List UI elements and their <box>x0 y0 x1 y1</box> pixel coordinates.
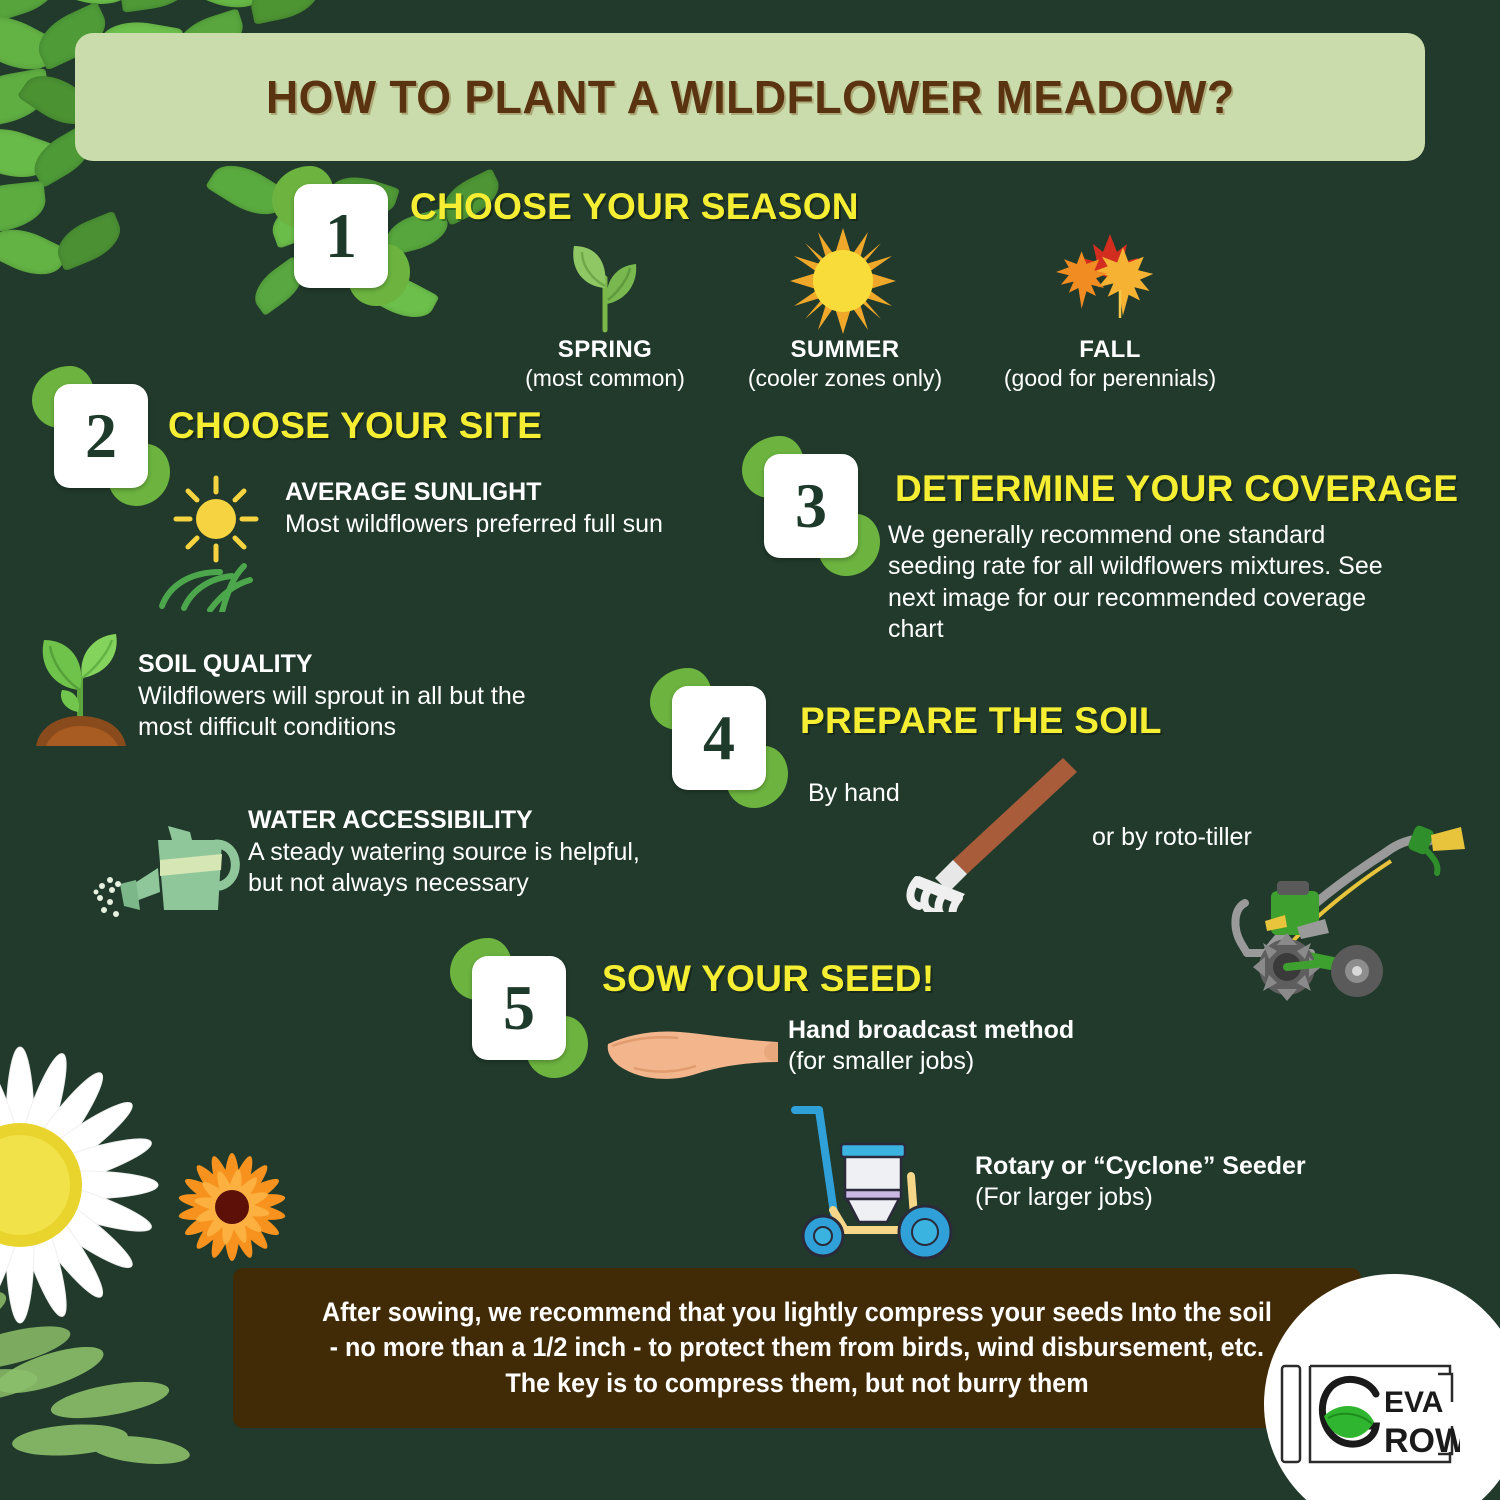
step-3-body: We generally recommend one standard seed… <box>888 520 1418 645</box>
step-4-heading: PREPARE THE SOIL <box>800 700 1162 742</box>
badge-card: 5 <box>472 956 566 1060</box>
seedling-icon <box>552 230 658 336</box>
badge-card: 3 <box>764 454 858 558</box>
item-body: Wildflowers will sprout in all but the m… <box>138 681 538 744</box>
season-note: (good for perennials) <box>965 365 1255 392</box>
item-body: Most wildflowers preferred full sun <box>285 509 705 540</box>
maple-leaves-icon <box>1050 226 1170 338</box>
season-note: (cooler zones only) <box>700 365 990 392</box>
sun-over-grass-icon <box>150 472 280 612</box>
rake-icon <box>895 752 1085 912</box>
step-4-badge: 4 <box>664 680 774 796</box>
callout-line-3: The key is to compress them, but not bur… <box>505 1366 1088 1401</box>
bottom-callout: After sowing, we recommend that you ligh… <box>233 1268 1361 1428</box>
page-title: HOW TO PLANT A WILDFLOWER MEADOW? <box>266 70 1235 124</box>
step-1-number: 1 <box>325 204 357 268</box>
method-title: Hand broadcast method <box>788 1016 1208 1045</box>
marigold-flower-decoration <box>175 1150 290 1265</box>
method-note: (For larger jobs) <box>975 1182 1405 1213</box>
page-title-banner: HOW TO PLANT A WILDFLOWER MEADOW? <box>75 33 1425 161</box>
roto-tiller-icon <box>1225 815 1495 1010</box>
logo-text-line2: ROW <box>1384 1422 1460 1460</box>
watering-can-icon <box>90 818 250 928</box>
callout-line-2: - no more than a 1/2 inch - to protect t… <box>330 1330 1264 1365</box>
method-note: (for smaller jobs) <box>788 1046 1208 1077</box>
sow-method-hand-broadcast: Hand broadcast method (for smaller jobs) <box>788 1016 1208 1077</box>
step-2-heading: CHOOSE YOUR SITE <box>168 405 542 447</box>
callout-line-1: After sowing, we recommend that you ligh… <box>322 1295 1272 1330</box>
step-1-badge: 1 <box>286 178 396 294</box>
step-2-number: 2 <box>85 404 117 468</box>
method-title: Rotary or “Cyclone” Seeder <box>975 1152 1405 1181</box>
site-item-soil-quality: SOIL QUALITY Wildflowers will sprout in … <box>138 650 538 744</box>
sun-icon <box>790 228 896 334</box>
badge-card: 2 <box>54 384 148 488</box>
season-name: SUMMER <box>700 336 990 364</box>
site-item-water-accessibility: WATER ACCESSIBILITY A steady watering so… <box>248 806 648 900</box>
step-5-badge: 5 <box>464 950 574 1066</box>
item-title: WATER ACCESSIBILITY <box>248 806 648 835</box>
logo-text-line1: EVA <box>1384 1386 1443 1419</box>
item-title: SOIL QUALITY <box>138 650 538 679</box>
step-3-badge: 3 <box>756 448 866 564</box>
open-hand-icon <box>600 1018 790 1098</box>
sow-method-rotary-seeder: Rotary or “Cyclone” Seeder (For larger j… <box>975 1152 1405 1213</box>
step-3-number: 3 <box>795 474 827 538</box>
step-3-body-block: We generally recommend one standard seed… <box>888 520 1418 645</box>
step-5-number: 5 <box>503 976 535 1040</box>
leaf-sprig-decoration <box>0 1330 250 1500</box>
item-body: A steady watering source is helpful, but… <box>248 837 648 900</box>
rotary-seeder-icon <box>775 1098 990 1263</box>
badge-card: 4 <box>672 686 766 790</box>
step-1-heading: CHOOSE YOUR SEASON <box>410 186 859 228</box>
item-title: AVERAGE SUNLIGHT <box>285 478 705 507</box>
brand-logo: EVA ROW <box>1280 1360 1460 1468</box>
site-item-sunlight: AVERAGE SUNLIGHT Most wildflowers prefer… <box>285 478 705 540</box>
sprout-in-soil-icon <box>22 620 140 750</box>
step-3-heading: DETERMINE YOUR COVERAGE <box>895 468 1458 510</box>
badge-card: 1 <box>294 184 388 288</box>
step-4-method-by-hand: By hand <box>808 778 900 809</box>
step-4-number: 4 <box>703 706 735 770</box>
step-2-badge: 2 <box>46 378 156 494</box>
season-name: FALL <box>965 336 1255 364</box>
step-5-heading: SOW YOUR SEED! <box>602 958 934 1000</box>
season-label-fall: FALL (good for perennials) <box>965 336 1255 392</box>
infographic-canvas: HOW TO PLANT A WILDFLOWER MEADOW? 1 CHOO… <box>0 0 1500 1500</box>
season-label-summer: SUMMER (cooler zones only) <box>700 336 990 392</box>
